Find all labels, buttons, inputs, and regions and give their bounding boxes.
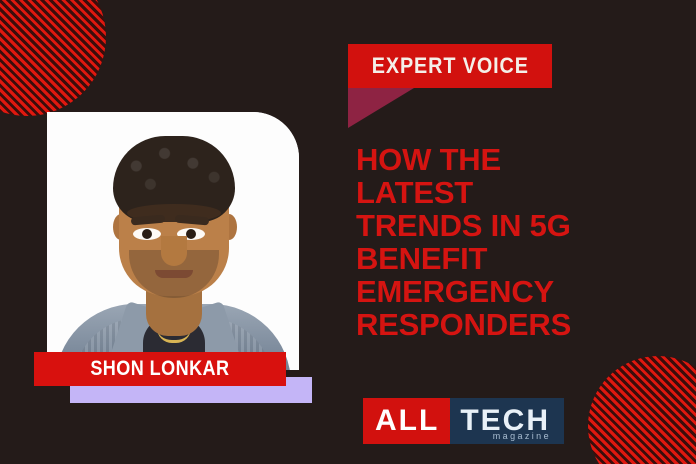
striped-circle-bottom-right-icon bbox=[588, 356, 696, 464]
portrait-pupil-left bbox=[142, 229, 152, 239]
ribbon-fold-triangle-icon bbox=[348, 88, 414, 128]
headline-line: HOW THE bbox=[356, 143, 686, 176]
expert-voice-ribbon-bar: EXPERT VOICE bbox=[348, 44, 552, 88]
portrait-eye-left bbox=[133, 228, 161, 240]
headline-line: RESPONDERS bbox=[356, 308, 686, 341]
portrait-mouth bbox=[155, 270, 193, 278]
speaker-photo-canvas bbox=[47, 112, 299, 370]
expert-voice-poster: SHON LONKAR EXPERT VOICE HOW THE LATEST … bbox=[0, 0, 696, 464]
striped-circle-top-left-icon bbox=[0, 0, 106, 116]
alltech-magazine-logo: ALL TECH magazine bbox=[363, 398, 564, 444]
expert-voice-ribbon: EXPERT VOICE bbox=[348, 44, 552, 128]
logo-tech-block: TECH magazine bbox=[450, 398, 564, 444]
speaker-name-banner: SHON LONKAR bbox=[34, 352, 286, 386]
portrait-nose bbox=[161, 236, 187, 266]
portrait-pupil-right bbox=[186, 229, 196, 239]
logo-all-block: ALL bbox=[363, 398, 450, 444]
expert-voice-label: EXPERT VOICE bbox=[371, 53, 528, 79]
headline-line: TRENDS IN 5G bbox=[356, 209, 686, 242]
speaker-photo bbox=[47, 112, 299, 370]
headline-line: EMERGENCY bbox=[356, 275, 686, 308]
logo-all-text: ALL bbox=[375, 406, 439, 436]
page-title: HOW THE LATEST TRENDS IN 5G BENEFIT EMER… bbox=[356, 143, 686, 341]
portrait-hair-texture bbox=[115, 138, 233, 208]
logo-tagline: magazine bbox=[493, 432, 551, 441]
headline-line: LATEST bbox=[356, 176, 686, 209]
headline-line: BENEFIT bbox=[356, 242, 686, 275]
speaker-name-label: SHON LONKAR bbox=[90, 357, 229, 381]
